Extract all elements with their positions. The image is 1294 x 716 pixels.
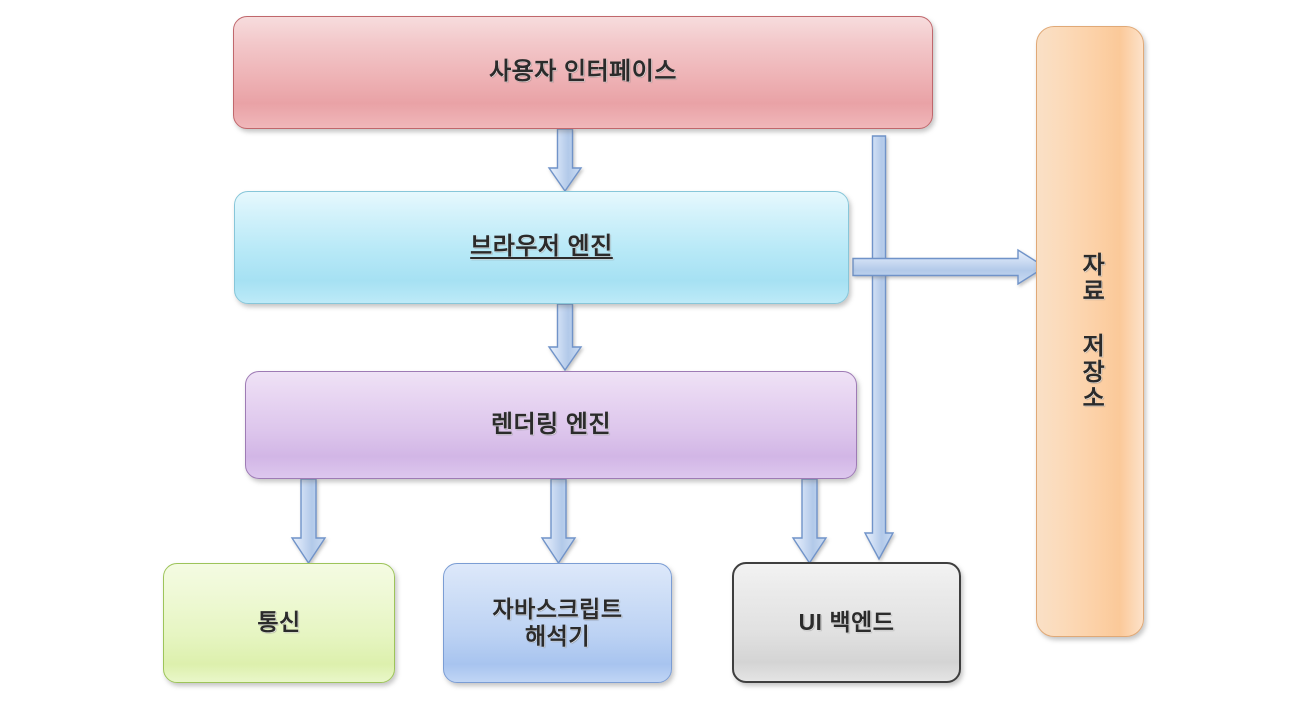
node-user-interface[interactable]: 사용자 인터페이스 [233, 16, 933, 129]
node-user-interface-label: 사용자 인터페이스 [479, 58, 687, 86]
node-communication-label: 통신 [247, 609, 310, 636]
node-data-storage-label: 자료 저장소 [1066, 252, 1114, 411]
node-ui-backend-label: UI 백엔드 [789, 609, 905, 636]
node-browser-engine-label: 브라우저 엔진 [460, 233, 623, 261]
node-communication[interactable]: 통신 [163, 563, 395, 683]
node-browser-engine[interactable]: 브라우저 엔진 [234, 191, 849, 304]
arrow-rendering-engine-to-ui-backend [790, 478, 830, 566]
node-javascript-interpreter-label: 자바스크립트 해석기 [483, 596, 633, 650]
node-javascript-interpreter[interactable]: 자바스크립트 해석기 [443, 563, 672, 683]
arrow-ui-to-browser-engine [546, 128, 584, 194]
node-rendering-engine-label: 렌더링 엔진 [481, 411, 621, 439]
arrow-browser-engine-to-rendering-engine [546, 303, 584, 373]
node-ui-backend[interactable]: UI 백엔드 [732, 562, 961, 683]
node-rendering-engine[interactable]: 렌더링 엔진 [245, 371, 857, 479]
node-data-storage[interactable]: 자료 저장소 [1036, 26, 1144, 637]
diagram-canvas: 사용자 인터페이스 브라우저 엔진 렌더링 엔진 통신 자바스크립트 해석기 U… [0, 0, 1294, 716]
arrow-rendering-engine-to-javascript-interpreter [539, 478, 579, 566]
arrow-ui-to-ui-backend [862, 135, 896, 563]
arrow-browser-engine-to-data-storage [852, 248, 1048, 286]
arrow-rendering-engine-to-communication [289, 478, 329, 566]
